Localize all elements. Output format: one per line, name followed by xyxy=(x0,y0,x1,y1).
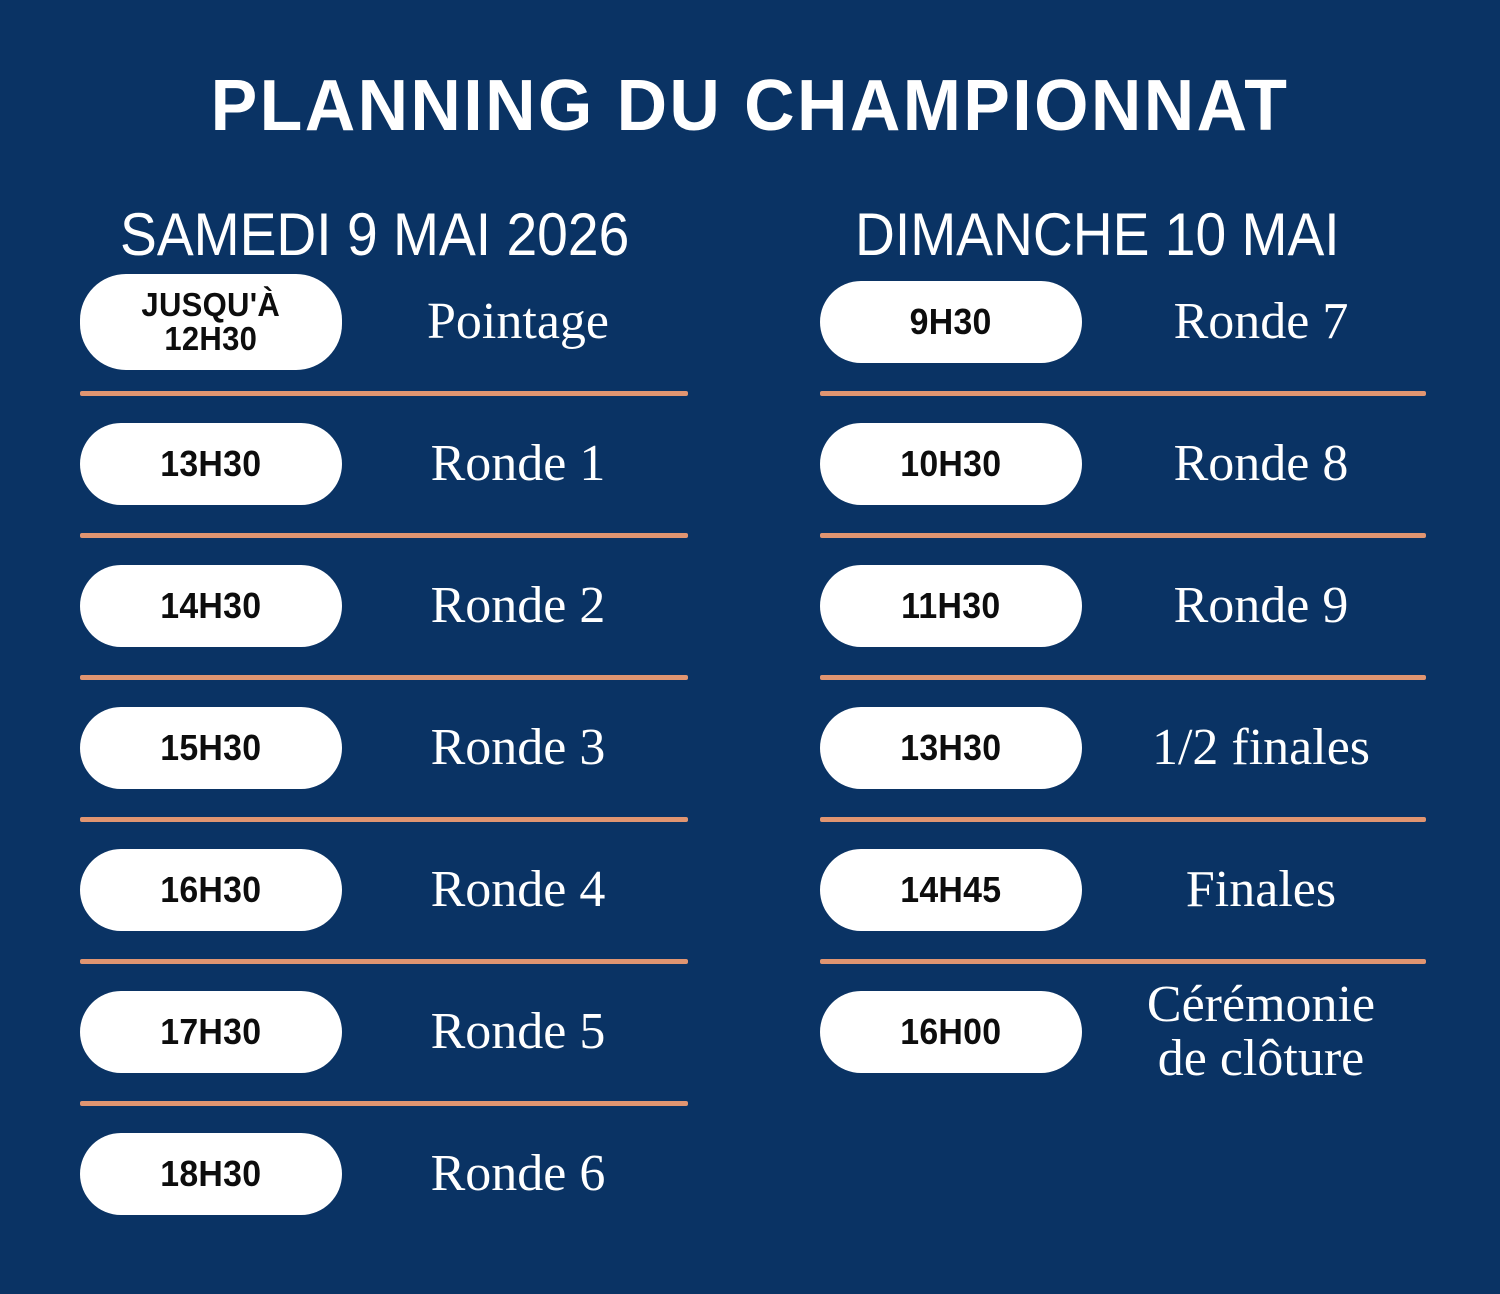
saturday-time-pill: 18H30 xyxy=(80,1133,342,1215)
sunday-event-label: Cérémonie de clôture xyxy=(1082,978,1426,1085)
time-value: 14H45 xyxy=(900,872,1001,909)
schedule-row: JUSQU'À 12H30Pointage xyxy=(80,262,688,382)
saturday-time-pill: JUSQU'À 12H30 xyxy=(80,274,342,370)
sunday-time-pill: 10H30 xyxy=(820,423,1082,505)
row-divider xyxy=(820,382,1426,404)
sunday-time-pill: 14H45 xyxy=(820,849,1082,931)
row-divider xyxy=(80,524,688,546)
saturday-event-label: Ronde 2 xyxy=(342,579,688,633)
row-divider xyxy=(820,950,1426,972)
schedule-row: 16H30Ronde 4 xyxy=(80,830,688,950)
sunday-time-pill: 11H30 xyxy=(820,565,1082,647)
row-divider xyxy=(80,1092,688,1114)
divider-rule xyxy=(820,817,1426,822)
sunday-time-pill: 13H30 xyxy=(820,707,1082,789)
divider-rule xyxy=(80,1101,688,1106)
saturday-time-pill: 17H30 xyxy=(80,991,342,1073)
day-heading-sunday: DIMANCHE 10 MAI xyxy=(855,205,1340,265)
saturday-event-label: Ronde 3 xyxy=(342,721,688,775)
time-value: 15H30 xyxy=(160,730,261,767)
schedule-column-saturday: JUSQU'À 12H30Pointage13H30Ronde 114H30Ro… xyxy=(80,262,688,1234)
championship-schedule-poster: PLANNING DU CHAMPIONNAT SAMEDI 9 MAI 202… xyxy=(0,0,1500,1294)
time-value: 11H30 xyxy=(901,588,1000,625)
saturday-time-pill: 14H30 xyxy=(80,565,342,647)
row-divider xyxy=(820,808,1426,830)
time-value: 14H30 xyxy=(160,588,261,625)
row-divider xyxy=(820,666,1426,688)
schedule-row: 13H301/2 finales xyxy=(820,688,1426,808)
row-divider xyxy=(80,666,688,688)
divider-rule xyxy=(820,391,1426,396)
saturday-time-pill: 15H30 xyxy=(80,707,342,789)
saturday-event-label: Ronde 4 xyxy=(342,863,688,917)
saturday-event-label: Pointage xyxy=(342,295,688,349)
time-value: 13H30 xyxy=(900,730,1001,767)
row-divider xyxy=(80,382,688,404)
divider-rule xyxy=(80,391,688,396)
sunday-time-pill: 9H30 xyxy=(820,281,1082,363)
page-title: PLANNING DU CHAMPIONNAT xyxy=(23,70,1478,142)
sunday-event-label: Ronde 9 xyxy=(1082,579,1426,633)
sunday-event-label: 1/2 finales xyxy=(1082,721,1426,775)
sunday-time-pill: 16H00 xyxy=(820,991,1082,1073)
time-value: 18H30 xyxy=(160,1156,261,1193)
time-value: 16H30 xyxy=(160,872,261,909)
saturday-event-label: Ronde 5 xyxy=(342,1005,688,1059)
saturday-time-pill: 16H30 xyxy=(80,849,342,931)
schedule-row: 13H30Ronde 1 xyxy=(80,404,688,524)
divider-rule xyxy=(820,959,1426,964)
row-divider xyxy=(820,524,1426,546)
schedule-row: 18H30Ronde 6 xyxy=(80,1114,688,1234)
sunday-event-label: Finales xyxy=(1082,863,1426,917)
day-heading-saturday: SAMEDI 9 MAI 2026 xyxy=(120,205,629,265)
divider-rule xyxy=(820,533,1426,538)
time-value: 10H30 xyxy=(900,446,1001,483)
schedule-row: 17H30Ronde 5 xyxy=(80,972,688,1092)
divider-rule xyxy=(820,675,1426,680)
schedule-row: 10H30Ronde 8 xyxy=(820,404,1426,524)
row-divider xyxy=(80,950,688,972)
time-value: 13H30 xyxy=(160,446,261,483)
schedule-row: 14H30Ronde 2 xyxy=(80,546,688,666)
schedule-row: 9H30Ronde 7 xyxy=(820,262,1426,382)
time-value: 9H30 xyxy=(910,304,992,341)
schedule-row: 14H45Finales xyxy=(820,830,1426,950)
saturday-event-label: Ronde 6 xyxy=(342,1147,688,1201)
row-divider xyxy=(80,808,688,830)
saturday-event-label: Ronde 1 xyxy=(342,437,688,491)
time-value: 17H30 xyxy=(160,1014,261,1051)
schedule-row: 15H30Ronde 3 xyxy=(80,688,688,808)
schedule-column-sunday: 9H30Ronde 710H30Ronde 811H30Ronde 913H30… xyxy=(820,262,1426,1092)
divider-rule xyxy=(80,533,688,538)
sunday-event-label: Ronde 8 xyxy=(1082,437,1426,491)
schedule-row: 11H30Ronde 9 xyxy=(820,546,1426,666)
time-value: 16H00 xyxy=(900,1014,1001,1051)
schedule-row: 16H00Cérémonie de clôture xyxy=(820,972,1426,1092)
sunday-event-label: Ronde 7 xyxy=(1082,295,1426,349)
divider-rule xyxy=(80,675,688,680)
divider-rule xyxy=(80,959,688,964)
saturday-time-pill: 13H30 xyxy=(80,423,342,505)
time-value: JUSQU'À 12H30 xyxy=(142,288,281,355)
divider-rule xyxy=(80,817,688,822)
